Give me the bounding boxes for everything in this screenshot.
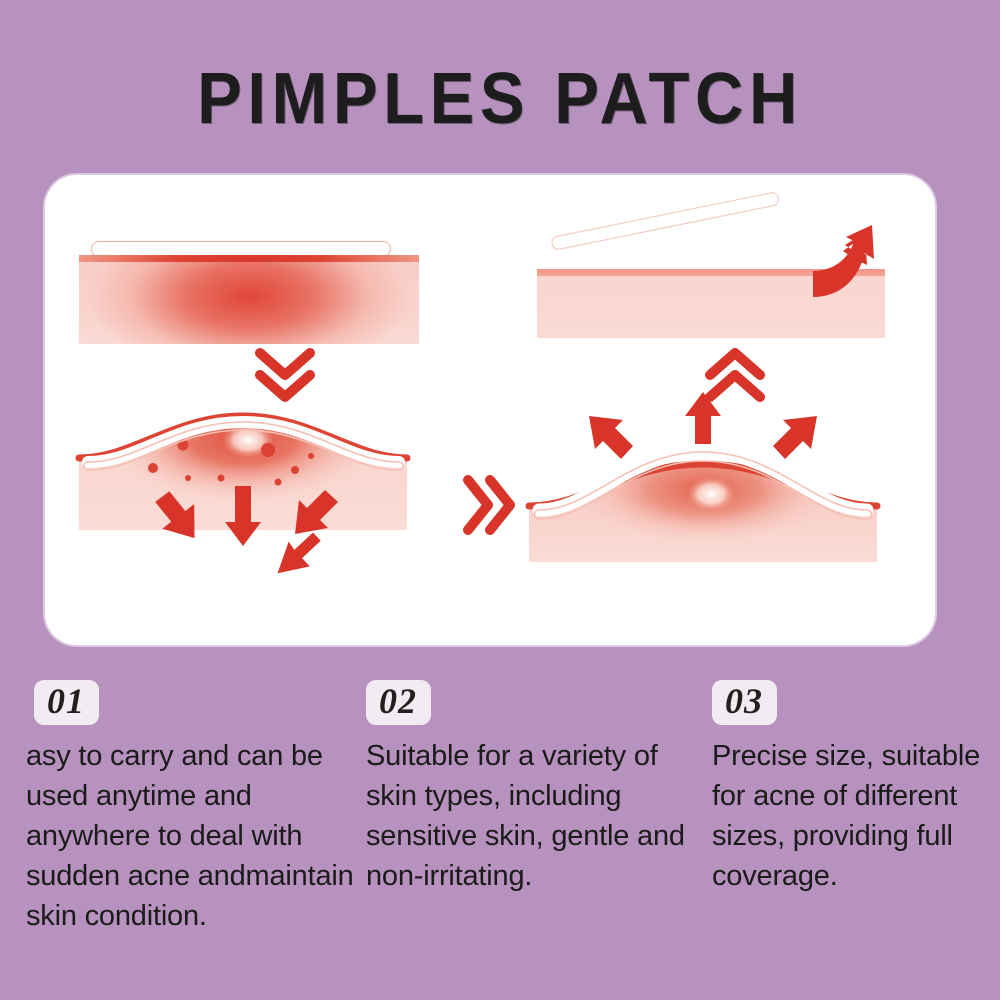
peel-arrow-icon (515, 213, 915, 363)
panel-apply (63, 230, 438, 360)
product-infographic-poster: PIMPLES PATCH (0, 0, 1000, 1000)
chevron-up-icon (700, 347, 770, 412)
illustration-card (45, 175, 935, 645)
feature-number-badge-01: 01 (34, 680, 99, 725)
feature-text-01: asy to carry and can be used anytime and… (26, 736, 354, 936)
pimple-cross-section-outward (515, 390, 915, 590)
feature-number-badge-02: 02 (366, 680, 431, 725)
feature-text-03: Precise size, suitable for acne of diffe… (712, 736, 992, 896)
feature-text-02: Suitable for a variety of skin types, in… (366, 736, 696, 896)
chevron-right-icon (460, 470, 520, 545)
feature-item-02: 02 Suitable for a variety of skin types,… (366, 680, 696, 896)
chevron-down-icon (250, 347, 320, 412)
feature-list: 01 asy to carry and can be used anytime … (0, 680, 1000, 1000)
pimple-cross-section-inward (63, 400, 438, 590)
panel-release (515, 390, 915, 590)
panel-absorb (63, 400, 438, 590)
skin-body-inflamed (79, 262, 419, 344)
panel-peel (515, 213, 915, 363)
feature-item-03: 03 Precise size, suitable for acne of di… (712, 680, 992, 896)
feature-number-badge-03: 03 (712, 680, 777, 725)
feature-item-01: 01 asy to carry and can be used anytime … (34, 680, 354, 936)
page-title: PIMPLES PATCH (35, 63, 965, 135)
